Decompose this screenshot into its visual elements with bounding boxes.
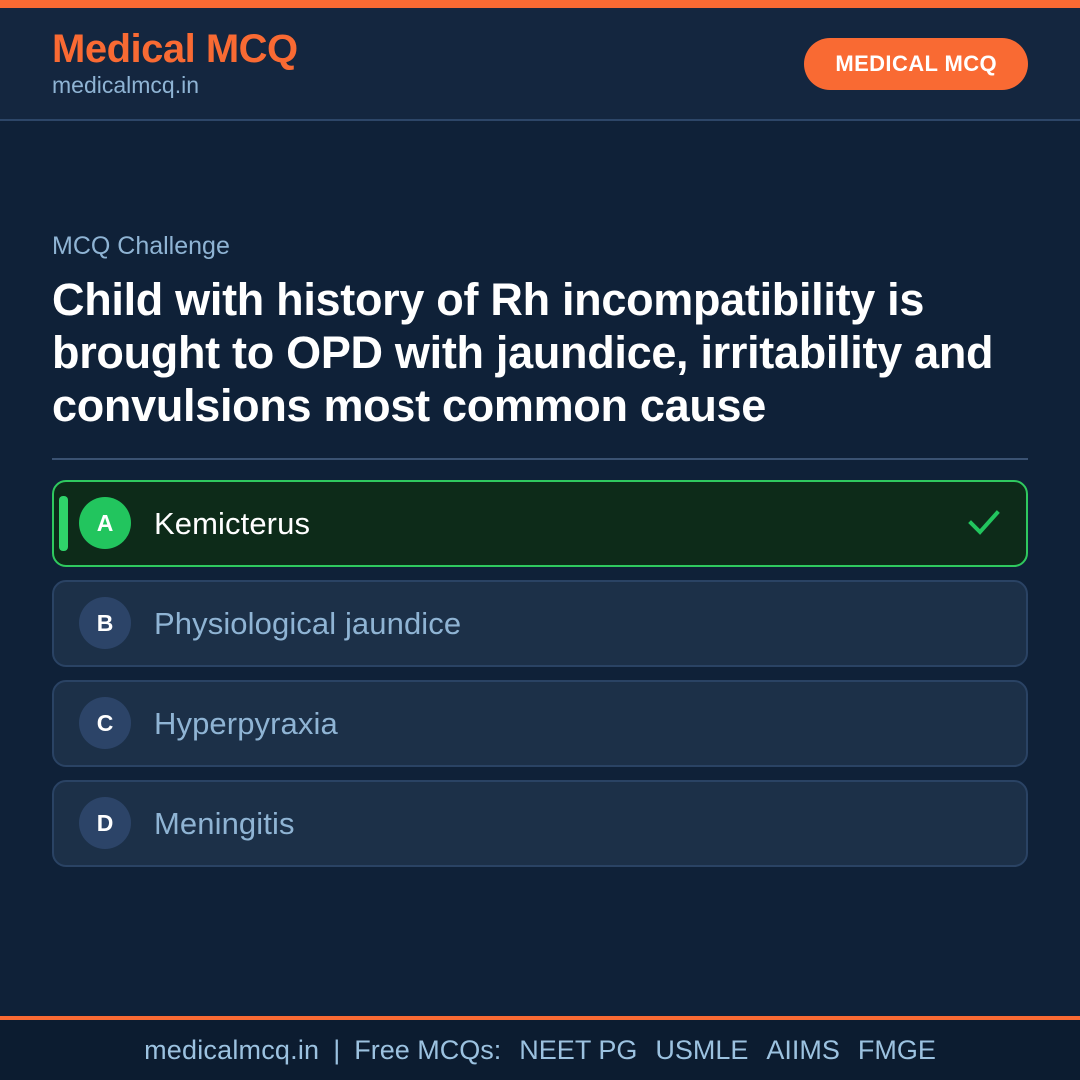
footer-site: medicalmcq.in bbox=[144, 1035, 319, 1066]
brand-title: Medical MCQ bbox=[52, 28, 298, 71]
options-list: A Kemicterus B Physiological jaundice C … bbox=[52, 480, 1028, 867]
brand-subtitle: medicalmcq.in bbox=[52, 73, 298, 98]
main-content: MCQ Challenge Child with history of Rh i… bbox=[0, 121, 1080, 1016]
footer-exam-aiims: AIIMS bbox=[766, 1035, 840, 1066]
footer-exam-neetpg: NEET PG bbox=[519, 1035, 637, 1066]
correct-accent-bar bbox=[59, 496, 68, 551]
option-a-badge: A bbox=[79, 497, 131, 549]
option-b-badge: B bbox=[79, 597, 131, 649]
header-badge: MEDICAL MCQ bbox=[804, 38, 1028, 90]
footer-label: Free MCQs: bbox=[354, 1035, 501, 1066]
option-d[interactable]: D Meningitis bbox=[52, 780, 1028, 867]
option-a-label: Kemicterus bbox=[154, 505, 310, 542]
footer-exam-list: NEET PG USMLE AIIMS FMGE bbox=[519, 1035, 936, 1066]
option-b-label: Physiological jaundice bbox=[154, 605, 461, 642]
footer-separator: | bbox=[319, 1035, 354, 1066]
option-d-label: Meningitis bbox=[154, 805, 295, 842]
top-accent-strip bbox=[0, 0, 1080, 8]
option-a[interactable]: A Kemicterus bbox=[52, 480, 1028, 567]
question-divider bbox=[52, 458, 1028, 460]
option-d-badge: D bbox=[79, 797, 131, 849]
question-text: Child with history of Rh incompatibility… bbox=[52, 273, 1028, 432]
eyebrow-label: MCQ Challenge bbox=[52, 233, 1028, 261]
footer-exam-fmge: FMGE bbox=[858, 1035, 936, 1066]
check-icon bbox=[966, 505, 1002, 541]
option-c[interactable]: C Hyperpyraxia bbox=[52, 680, 1028, 767]
footer-exam-usmle: USMLE bbox=[655, 1035, 748, 1066]
option-c-label: Hyperpyraxia bbox=[154, 705, 338, 742]
page-footer: medicalmcq.in | Free MCQs: NEET PG USMLE… bbox=[0, 1016, 1080, 1080]
option-c-badge: C bbox=[79, 697, 131, 749]
option-b[interactable]: B Physiological jaundice bbox=[52, 580, 1028, 667]
brand-block: Medical MCQ medicalmcq.in bbox=[52, 28, 298, 98]
page-header: Medical MCQ medicalmcq.in MEDICAL MCQ bbox=[0, 8, 1080, 121]
